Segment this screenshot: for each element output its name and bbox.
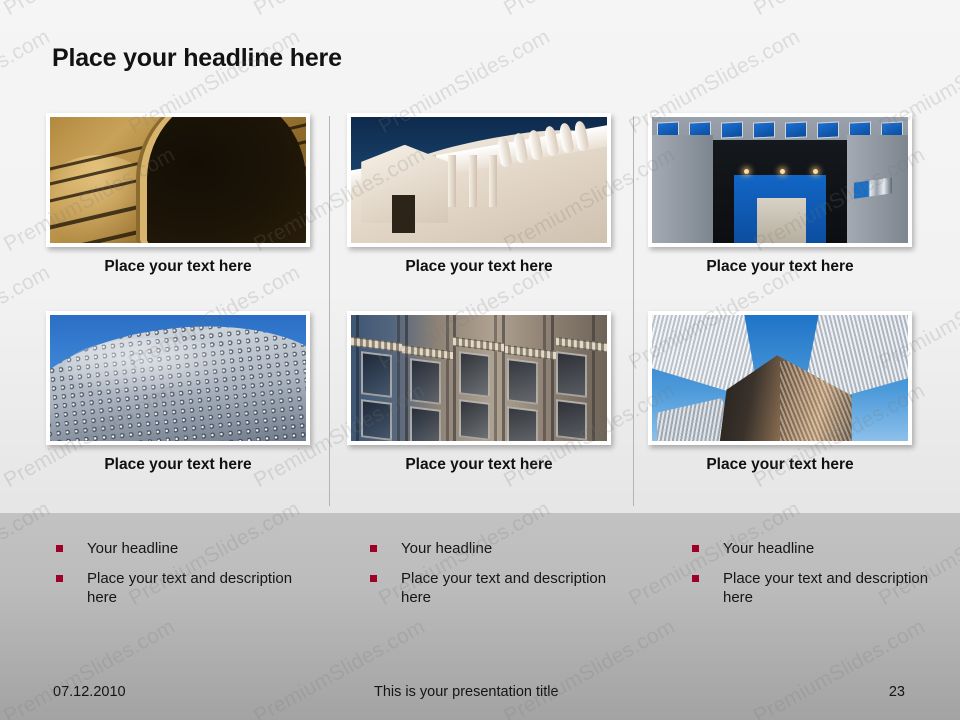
footer-date: 07.12.2010 xyxy=(53,684,126,700)
footer-title: This is your presentation title xyxy=(374,684,559,700)
bullet-square-icon xyxy=(56,545,63,552)
photo-cell-4[interactable]: Place your text here xyxy=(46,311,310,474)
photo-cell-6[interactable]: Place your text here xyxy=(648,311,912,474)
photo-cell-2[interactable]: Place your text here xyxy=(347,113,611,276)
list-item: Your headline xyxy=(692,539,952,558)
bullet-column-2: Your headline Place your text and descri… xyxy=(370,539,630,619)
photo-image-3 xyxy=(652,117,908,243)
list-item: Place your text and description here xyxy=(370,569,630,607)
bullet-square-icon xyxy=(692,575,699,582)
photo-frame-1 xyxy=(46,113,310,247)
list-item: Place your text and description here xyxy=(56,569,316,607)
bullet-column-1: Your headline Place your text and descri… xyxy=(56,539,316,619)
photo-image-4 xyxy=(50,315,306,441)
bullet-text: Your headline xyxy=(401,539,492,558)
slide-canvas: Place your headline here Place your text… xyxy=(0,0,960,720)
photo-frame-4 xyxy=(46,311,310,445)
bullet-text: Your headline xyxy=(87,539,178,558)
bullet-text: Your headline xyxy=(723,539,814,558)
list-item: Your headline xyxy=(370,539,630,558)
bullet-column-3: Your headline Place your text and descri… xyxy=(692,539,952,619)
bullet-text: Place your text and description here xyxy=(87,569,316,607)
bullet-text: Place your text and description here xyxy=(723,569,952,607)
bullet-text: Place your text and description here xyxy=(401,569,630,607)
bullet-square-icon xyxy=(370,575,377,582)
bullet-square-icon xyxy=(692,545,699,552)
photo-image-2 xyxy=(351,117,607,243)
photo-image-6 xyxy=(652,315,908,441)
photo-cell-1[interactable]: Place your text here xyxy=(46,113,310,276)
photo-caption-4: Place your text here xyxy=(46,456,310,474)
footer-page-number: 23 xyxy=(889,684,905,700)
slide-footer: 07.12.2010 This is your presentation tit… xyxy=(0,684,960,706)
bullet-square-icon xyxy=(56,575,63,582)
photo-frame-3 xyxy=(648,113,912,247)
photo-caption-3: Place your text here xyxy=(648,258,912,276)
bullet-square-icon xyxy=(370,545,377,552)
photo-caption-5: Place your text here xyxy=(347,456,611,474)
page-title: Place your headline here xyxy=(52,44,342,73)
photo-caption-1: Place your text here xyxy=(46,258,310,276)
list-item: Your headline xyxy=(56,539,316,558)
photo-cell-5[interactable]: Place your text here xyxy=(347,311,611,474)
photo-frame-6 xyxy=(648,311,912,445)
photo-caption-2: Place your text here xyxy=(347,258,611,276)
photo-caption-6: Place your text here xyxy=(648,456,912,474)
photo-frame-2 xyxy=(347,113,611,247)
photo-frame-5 xyxy=(347,311,611,445)
list-item: Place your text and description here xyxy=(692,569,952,607)
photo-cell-3[interactable]: Place your text here xyxy=(648,113,912,276)
photo-image-1 xyxy=(50,117,306,243)
photo-image-5 xyxy=(351,315,607,441)
